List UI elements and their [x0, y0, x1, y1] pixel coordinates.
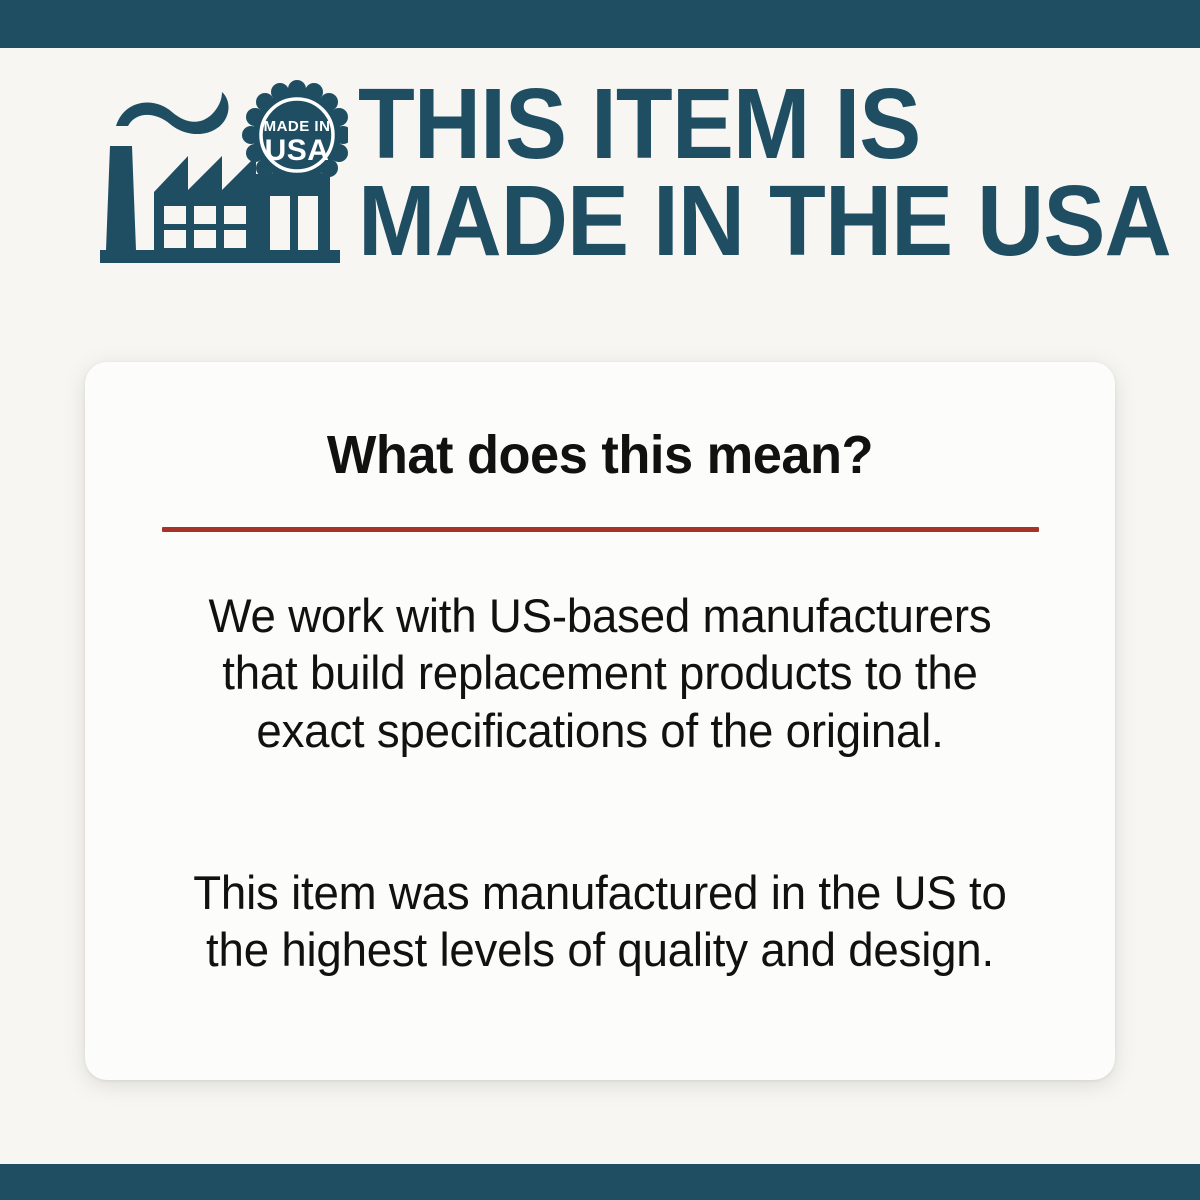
bottom-brand-bar [0, 1164, 1200, 1200]
header: MADE IN USA THIS ITEM IS MADE IN THE USA [0, 48, 1200, 298]
top-brand-bar [0, 0, 1200, 48]
made-in-usa-badge-icon: MADE IN USA [242, 80, 348, 190]
headline-line-2: MADE IN THE USA [358, 173, 1171, 270]
card-divider [162, 527, 1039, 532]
info-card: What does this mean? We work with US-bas… [85, 362, 1115, 1080]
factory-base-icon [100, 250, 340, 263]
badge-usa-label: USA [265, 134, 330, 167]
card-title: What does this mean? [100, 362, 1099, 486]
factory-icon: MADE IN USA [98, 78, 348, 268]
card-paragraph-2: This item was manufactured in the US to … [173, 864, 1027, 979]
smokestack-icon [106, 146, 136, 250]
badge-made-in-label: MADE IN [264, 118, 331, 135]
smoke-plume-icon [116, 92, 229, 134]
card-paragraph-1: We work with US-based manufacturers that… [173, 587, 1027, 759]
page-title: THIS ITEM IS MADE IN THE USA [358, 76, 1171, 270]
headline-line-1: THIS ITEM IS [358, 76, 1171, 173]
